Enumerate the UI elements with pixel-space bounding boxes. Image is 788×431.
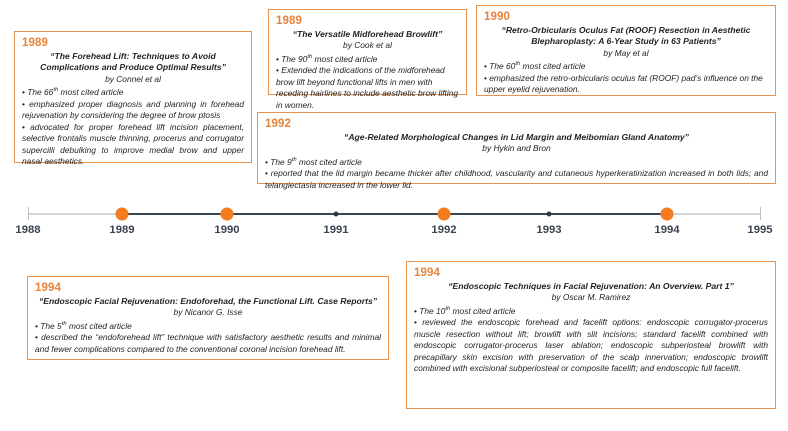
card-year: 1992 [265,117,768,131]
timeline-card-1994-isse: 1994 “Endoscopic Facial Rejuvenation: En… [27,276,389,360]
card-bullet: described the “endoforehead lift” techni… [35,332,381,355]
card-author: by Nicanor G. Isse [35,307,381,318]
card-year: 1994 [35,281,381,295]
card-title: “The Versatile Midforehead Browlift” [276,29,459,40]
card-bullet-list: The 90th most cited articleExtended the … [276,54,459,112]
card-bullet: The 66th most cited article [22,87,244,99]
timeline-year-label-1988: 1988 [15,224,40,236]
card-bullet: The 10th most cited article [414,306,768,318]
axis-segment-active [122,213,667,215]
axis-end-tick-start [28,207,29,220]
card-bullet: The 90th most cited article [276,54,459,66]
axis-segment-left [28,213,122,215]
timeline-year-label-1992: 1992 [431,224,456,236]
timeline-card-1994-ramirez: 1994 “Endoscopic Techniques in Facial Re… [406,261,776,409]
card-bullet: reported that the lid margin became thic… [265,168,768,191]
card-year: 1990 [484,10,768,24]
timeline-node-1994[interactable] [661,208,674,221]
axis-end-tick-end [760,207,761,220]
timeline-year-label-1995: 1995 [747,224,772,236]
timeline-year-label-1994: 1994 [654,224,679,236]
card-author: by May et al [484,48,768,59]
timeline-year-label-1993: 1993 [536,224,561,236]
card-bullet: emphasized proper diagnosis and planning… [22,99,244,122]
card-bullet: The 5th most cited article [35,321,381,333]
card-bullet: reviewed the endoscopic forehead and fac… [414,317,768,375]
timeline-node-1990[interactable] [220,208,233,221]
card-year: 1989 [22,36,244,50]
card-bullet-list: The 66th most cited articleemphasized pr… [22,87,244,168]
card-year: 1989 [276,14,459,28]
card-bullet-list: The 5th most cited articledescribed the … [35,321,381,356]
card-year: 1994 [414,266,768,280]
card-bullet: The 9th most cited article [265,157,768,169]
timeline-card-1990-may: 1990 “Retro-Orbicularis Oculus Fat (ROOF… [476,5,776,96]
card-bullet: emphasized the retro-orbicularis oculus … [484,73,768,96]
card-bullet: The 60th most cited article [484,61,768,73]
timeline-node-1993[interactable] [546,212,551,217]
card-bullet-list: The 10th most cited articlereviewed the … [414,306,768,375]
card-bullet-list: The 9th most cited articlereported that … [265,157,768,192]
card-title: “Endoscopic Techniques in Facial Rejuven… [414,281,768,292]
card-author: by Cook et al [276,40,459,51]
timeline-year-label-1990: 1990 [214,224,239,236]
timeline-card-1992-hykin: 1992 “Age-Related Morphological Changes … [257,112,776,184]
card-bullet: advocated for proper forehead lift incis… [22,122,244,168]
card-author: by Connel et al [22,74,244,85]
timeline-node-1991[interactable] [334,212,339,217]
timeline-card-1989-connel: 1989 “The Forehead Lift: Techniques to A… [14,31,252,163]
timeline-year-label-1991: 1991 [323,224,348,236]
card-title: “The Forehead Lift: Techniques to Avoid … [22,51,244,74]
timeline-node-1992[interactable] [437,208,450,221]
card-title: “Endoscopic Facial Rejuvenation: Endofor… [35,296,381,307]
card-title: “Retro-Orbicularis Oculus Fat (ROOF) Res… [484,25,768,48]
timeline-card-1989-cook: 1989 “The Versatile Midforehead Browlift… [268,9,467,95]
card-bullet-list: The 60th most cited articleemphasized th… [484,61,768,96]
axis-segment-right [667,213,760,215]
card-author: by Oscar M. Ramirez [414,292,768,303]
timeline-year-label-1989: 1989 [109,224,134,236]
card-bullet: Extended the indications of the midforeh… [276,65,459,111]
timeline-node-1989[interactable] [115,208,128,221]
card-author: by Hykin and Bron [265,143,768,154]
card-title: “Age-Related Morphological Changes in Li… [265,132,768,143]
timeline-axis: 19881989199019911992199319941995 [0,192,788,242]
